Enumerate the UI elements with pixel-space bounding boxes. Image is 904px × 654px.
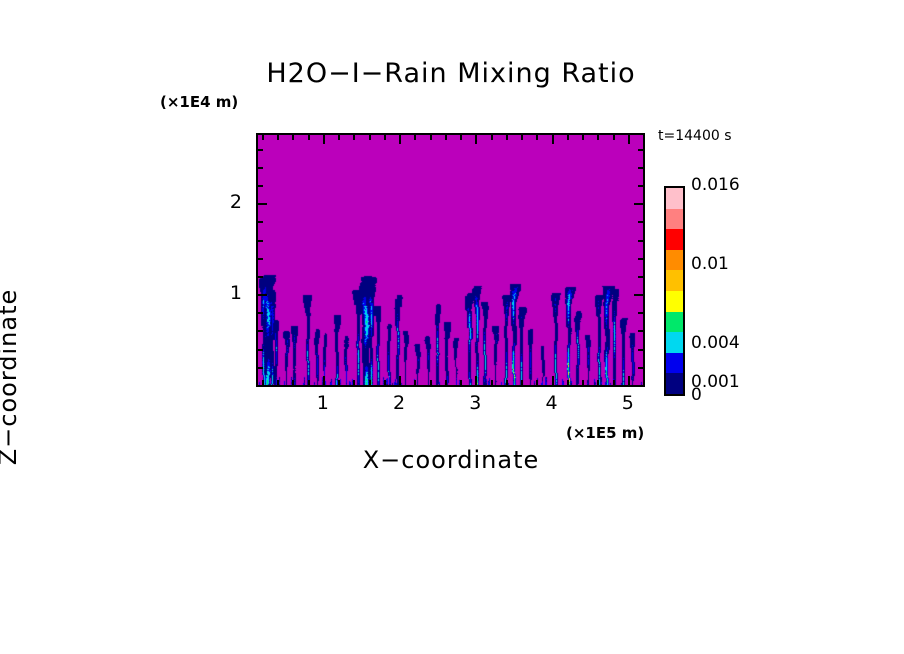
colorbar-band — [666, 229, 683, 250]
y-minor-tick — [258, 149, 263, 151]
x-minor-tick-top — [430, 135, 432, 140]
y-minor-tick — [258, 367, 263, 369]
x-minor-tick-top — [582, 135, 584, 140]
x-major-tick — [399, 376, 401, 385]
x-minor-tick-top — [536, 135, 538, 140]
y-minor-tick — [258, 330, 263, 332]
x-minor-tick — [491, 380, 493, 385]
x-major-tick-top — [475, 135, 477, 144]
x-minor-tick — [597, 380, 599, 385]
y-minor-tick-right — [638, 349, 643, 351]
y-minor-tick-right — [638, 185, 643, 187]
y-axis-units-label: (×1E4 m) — [160, 93, 238, 111]
y-major-tick-right — [634, 203, 643, 205]
colorbar-tick-label: 0.016 — [691, 175, 740, 195]
y-minor-tick-right — [638, 276, 643, 278]
x-major-tick — [552, 376, 554, 385]
x-minor-tick — [582, 380, 584, 385]
y-major-tick — [258, 203, 267, 205]
x-major-tick-top — [399, 135, 401, 144]
colorbar-band — [666, 291, 683, 312]
x-minor-tick — [384, 380, 386, 385]
x-minor-tick — [353, 380, 355, 385]
x-minor-tick-top — [277, 135, 279, 140]
x-tick-label: 1 — [308, 392, 338, 414]
y-minor-tick-right — [638, 149, 643, 151]
figure-root: H2O−I−Rain Mixing Ratio (×1E4 m) (×1E5 m… — [0, 0, 904, 654]
x-minor-tick-top — [414, 135, 416, 140]
x-minor-tick — [460, 380, 462, 385]
x-minor-tick — [445, 380, 447, 385]
x-minor-tick-top — [506, 135, 508, 140]
page-title: H2O−I−Rain Mixing Ratio — [0, 58, 904, 89]
y-minor-tick — [258, 312, 263, 314]
x-tick-label: 3 — [460, 392, 490, 414]
y-major-tick-right — [634, 294, 643, 296]
y-minor-tick-right — [638, 330, 643, 332]
x-minor-tick — [521, 380, 523, 385]
x-major-tick-top — [323, 135, 325, 144]
y-minor-tick — [258, 349, 263, 351]
y-minor-tick-right — [638, 258, 643, 260]
x-minor-tick-top — [338, 135, 340, 140]
colorbar-tick-label: 0.01 — [691, 254, 729, 274]
colorbar-band — [666, 373, 683, 394]
y-minor-tick-right — [638, 367, 643, 369]
colorbar-band — [666, 209, 683, 230]
x-minor-tick — [430, 380, 432, 385]
x-axis-label: X−coordinate — [256, 446, 646, 474]
y-minor-tick — [258, 258, 263, 260]
y-tick-label: 2 — [214, 191, 242, 213]
colorbar-band — [666, 188, 683, 209]
x-minor-tick-top — [491, 135, 493, 140]
x-minor-tick-top — [521, 135, 523, 140]
x-minor-tick-top — [292, 135, 294, 140]
colorbar-band — [666, 270, 683, 291]
colorbar-band — [666, 312, 683, 333]
x-minor-tick — [414, 380, 416, 385]
y-minor-tick-right — [638, 221, 643, 223]
y-minor-tick — [258, 167, 263, 169]
x-minor-tick — [262, 380, 264, 385]
y-axis-label: Z−coordinate — [0, 182, 22, 572]
x-minor-tick-top — [384, 135, 386, 140]
x-minor-tick-top — [369, 135, 371, 140]
x-axis-units-label: (×1E5 m) — [566, 424, 644, 442]
plot-title-text: H2O−I−Rain Mixing Ratio — [266, 58, 635, 89]
y-minor-tick-right — [638, 167, 643, 169]
x-major-tick — [323, 376, 325, 385]
x-minor-tick-top — [567, 135, 569, 140]
y-minor-tick-right — [638, 312, 643, 314]
x-minor-tick — [567, 380, 569, 385]
y-minor-tick-right — [638, 240, 643, 242]
contour-field-canvas — [258, 135, 643, 385]
colorbar-tick-label: 0.004 — [691, 333, 740, 353]
x-tick-label: 4 — [537, 392, 567, 414]
colorbar-band — [666, 250, 683, 271]
x-minor-tick-top — [643, 135, 645, 140]
x-minor-tick-top — [262, 135, 264, 140]
x-minor-tick — [292, 380, 294, 385]
x-minor-tick — [613, 380, 615, 385]
x-minor-tick-top — [353, 135, 355, 140]
colorbar-tick-label: 0 — [691, 385, 702, 405]
x-minor-tick — [536, 380, 538, 385]
plot-area — [256, 133, 645, 387]
x-minor-tick — [338, 380, 340, 385]
colorbar — [664, 186, 685, 396]
x-minor-tick-top — [460, 135, 462, 140]
time-stamp-annotation: t=14400 s — [658, 128, 732, 144]
y-minor-tick — [258, 221, 263, 223]
y-minor-tick — [258, 240, 263, 242]
x-minor-tick-top — [597, 135, 599, 140]
x-minor-tick — [643, 380, 645, 385]
x-minor-tick-top — [613, 135, 615, 140]
x-tick-label: 2 — [384, 392, 414, 414]
x-minor-tick — [308, 380, 310, 385]
x-major-tick — [628, 376, 630, 385]
colorbar-band — [666, 332, 683, 353]
y-minor-tick — [258, 276, 263, 278]
x-minor-tick-top — [445, 135, 447, 140]
x-major-tick-top — [628, 135, 630, 144]
x-minor-tick — [369, 380, 371, 385]
y-tick-label: 1 — [214, 282, 242, 304]
x-major-tick — [475, 376, 477, 385]
x-major-tick-top — [552, 135, 554, 144]
y-major-tick — [258, 294, 267, 296]
colorbar-band — [666, 353, 683, 374]
x-tick-label: 5 — [613, 392, 643, 414]
x-minor-tick — [506, 380, 508, 385]
x-minor-tick-top — [308, 135, 310, 140]
x-minor-tick — [277, 380, 279, 385]
y-minor-tick — [258, 185, 263, 187]
